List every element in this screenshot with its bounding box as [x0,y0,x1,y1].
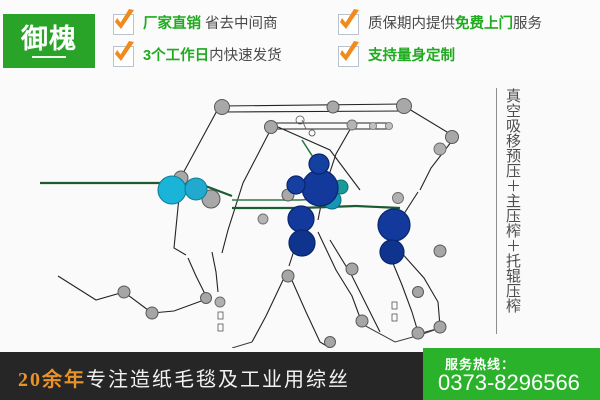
press-rollers-group [287,154,410,264]
hotline-panel[interactable]: 服务热线： 0373-8296566 [423,348,600,400]
feature-column-right: 质保期内提供免费上门服务 支持量身定制 [338,8,542,72]
fabric-run-secondary [232,324,440,348]
header-bar: 御槐 厂家直销 省去中间商 3个工作日内快速发货 [0,0,600,80]
footer-tagline-text: 专注造纸毛毯及工业用综丝 [86,369,350,391]
idler-roller [412,327,424,339]
feature-text-2: 3个工作日内快速发货 [143,47,282,66]
brand-logo: 御槐 [3,14,95,68]
press-roller [289,230,315,256]
footer-tagline: 20余年专注造纸毛毯及工业用综丝 [18,363,350,392]
idler-roller [413,287,424,298]
idler-roller [282,270,294,282]
vacuum-pickup-roller-large [158,176,186,204]
idler-roller [393,193,404,204]
hotline-number[interactable]: 0373-8296566 [438,370,580,396]
idler-roller [215,100,230,115]
brand-logo-text: 御槐 [21,24,77,54]
feature-text-3: 质保期内提供免费上门服务 [368,15,542,34]
checkmark-icon [338,46,359,67]
idler-roller [397,99,412,114]
idler-roller [356,315,368,327]
feature-column-left: 厂家直销 省去中间商 3个工作日内快速发货 [113,8,282,72]
feature-text-4: 支持量身定制 [368,47,455,66]
idler-roller [258,214,268,224]
idler-roller [434,245,446,257]
idler-roller [446,131,459,144]
idler-roller [215,297,225,307]
feature-text-1: 厂家直销 省去中间商 [143,15,278,34]
feature-item-4: 支持量身定制 [338,40,542,72]
press-roller [380,240,404,264]
idler-roller [434,143,446,155]
idler-roller [346,263,358,275]
feature-item-2: 3个工作日内快速发货 [113,40,282,72]
idler-roller [327,101,339,113]
idler-roller [146,307,158,319]
brand-logo-underline [32,56,66,58]
checkmark-icon [113,46,134,67]
feature-item-1: 厂家直销 省去中间商 [113,8,282,40]
process-caption: 真空吸移预压＋主压榨＋托辊压榨 [496,88,521,336]
idler-roller [325,337,336,348]
idler-roller [201,293,212,304]
idler-roller [434,321,446,333]
checkmark-icon [113,14,134,35]
footer-years: 20余年 [18,369,86,391]
idler-roller [118,286,130,298]
feature-item-3: 质保期内提供免费上门服务 [338,8,542,40]
press-roller [378,209,410,241]
idler-roller-small [369,122,376,129]
idler-roller [265,121,278,134]
press-roller [309,154,329,174]
press-roller [288,206,314,232]
idler-roller [347,120,357,130]
press-roller [287,176,305,194]
caption-text: 真空吸移预压＋主压榨＋托辊压榨 [504,88,521,334]
caption-divider [496,88,497,334]
vacuum-pickup-roller [185,178,207,200]
promo-banner: 御槐 厂家直销 省去中间商 3个工作日内快速发货 [0,0,600,400]
idler-roller-small [385,122,392,129]
main-press-roller [302,170,338,206]
checkmark-icon [338,14,359,35]
